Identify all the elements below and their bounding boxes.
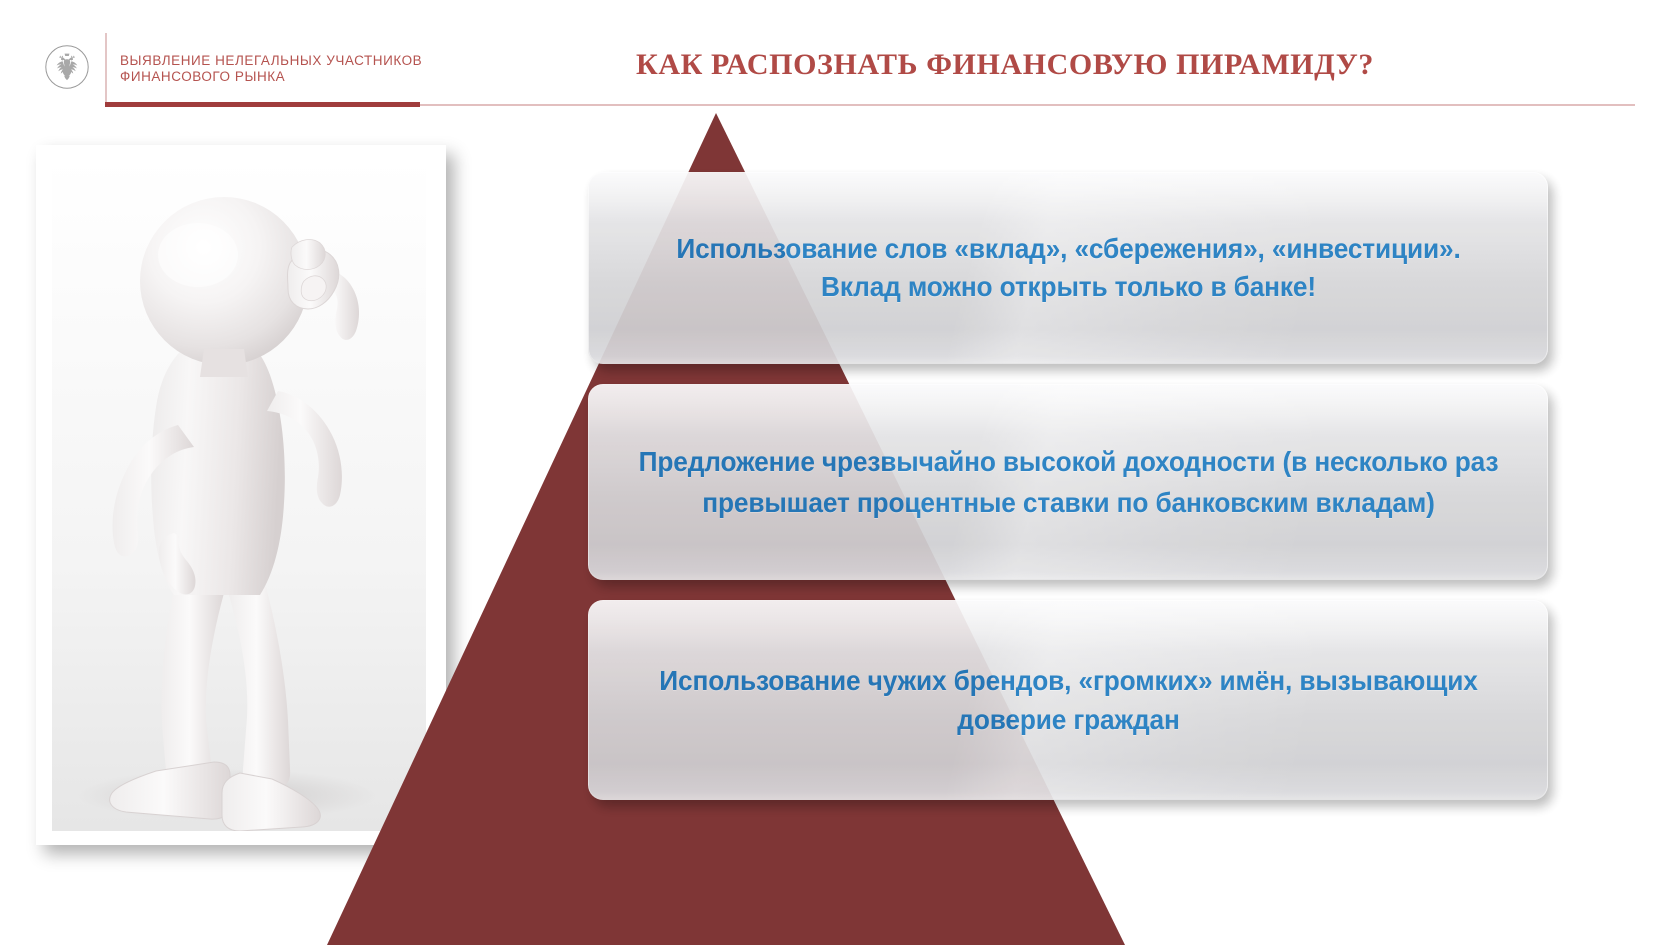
criteria-box-2-text: Предложение чрезвычайно высокой доходнос… xyxy=(636,441,1500,523)
header-rule-thin xyxy=(420,104,1635,106)
criteria-box-1-text: Использование слов «вклад», «сбережения»… xyxy=(636,230,1500,306)
header-rule-thick xyxy=(105,102,420,107)
thinking-person-figure-icon xyxy=(52,159,426,831)
header-subtitle-line1: ВЫЯВЛЕНИЕ НЕЛЕГАЛЬНЫХ УЧАСТНИКОВ xyxy=(120,53,422,68)
criteria-box-2[interactable]: Предложение чрезвычайно высокой доходнос… xyxy=(588,384,1548,580)
slide-root: ВЫЯВЛЕНИЕ НЕЛЕГАЛЬНЫХ УЧАСТНИКОВ ФИНАНСО… xyxy=(0,0,1680,945)
illustration-image xyxy=(52,159,426,831)
header-subtitle: ВЫЯВЛЕНИЕ НЕЛЕГАЛЬНЫХ УЧАСТНИКОВ ФИНАНСО… xyxy=(120,53,450,85)
header-subtitle-line2: ФИНАНСОВОГО РЫНКА xyxy=(120,69,450,85)
illustration-card xyxy=(36,145,446,845)
criteria-box-1[interactable]: Использование слов «вклад», «сбережения»… xyxy=(588,172,1548,364)
criteria-box-3-text: Использование чужих брендов, «громких» и… xyxy=(636,661,1500,739)
page-title: КАК РАСПОЗНАТЬ ФИНАНСОВУЮ ПИРАМИДУ? xyxy=(430,48,1580,82)
slide-header: ВЫЯВЛЕНИЕ НЕЛЕГАЛЬНЫХ УЧАСТНИКОВ ФИНАНСО… xyxy=(0,0,1680,118)
criteria-box-3[interactable]: Использование чужих брендов, «громких» и… xyxy=(588,600,1548,800)
bank-of-russia-eagle-emblem-icon xyxy=(44,44,90,90)
header-vertical-divider xyxy=(105,33,107,102)
